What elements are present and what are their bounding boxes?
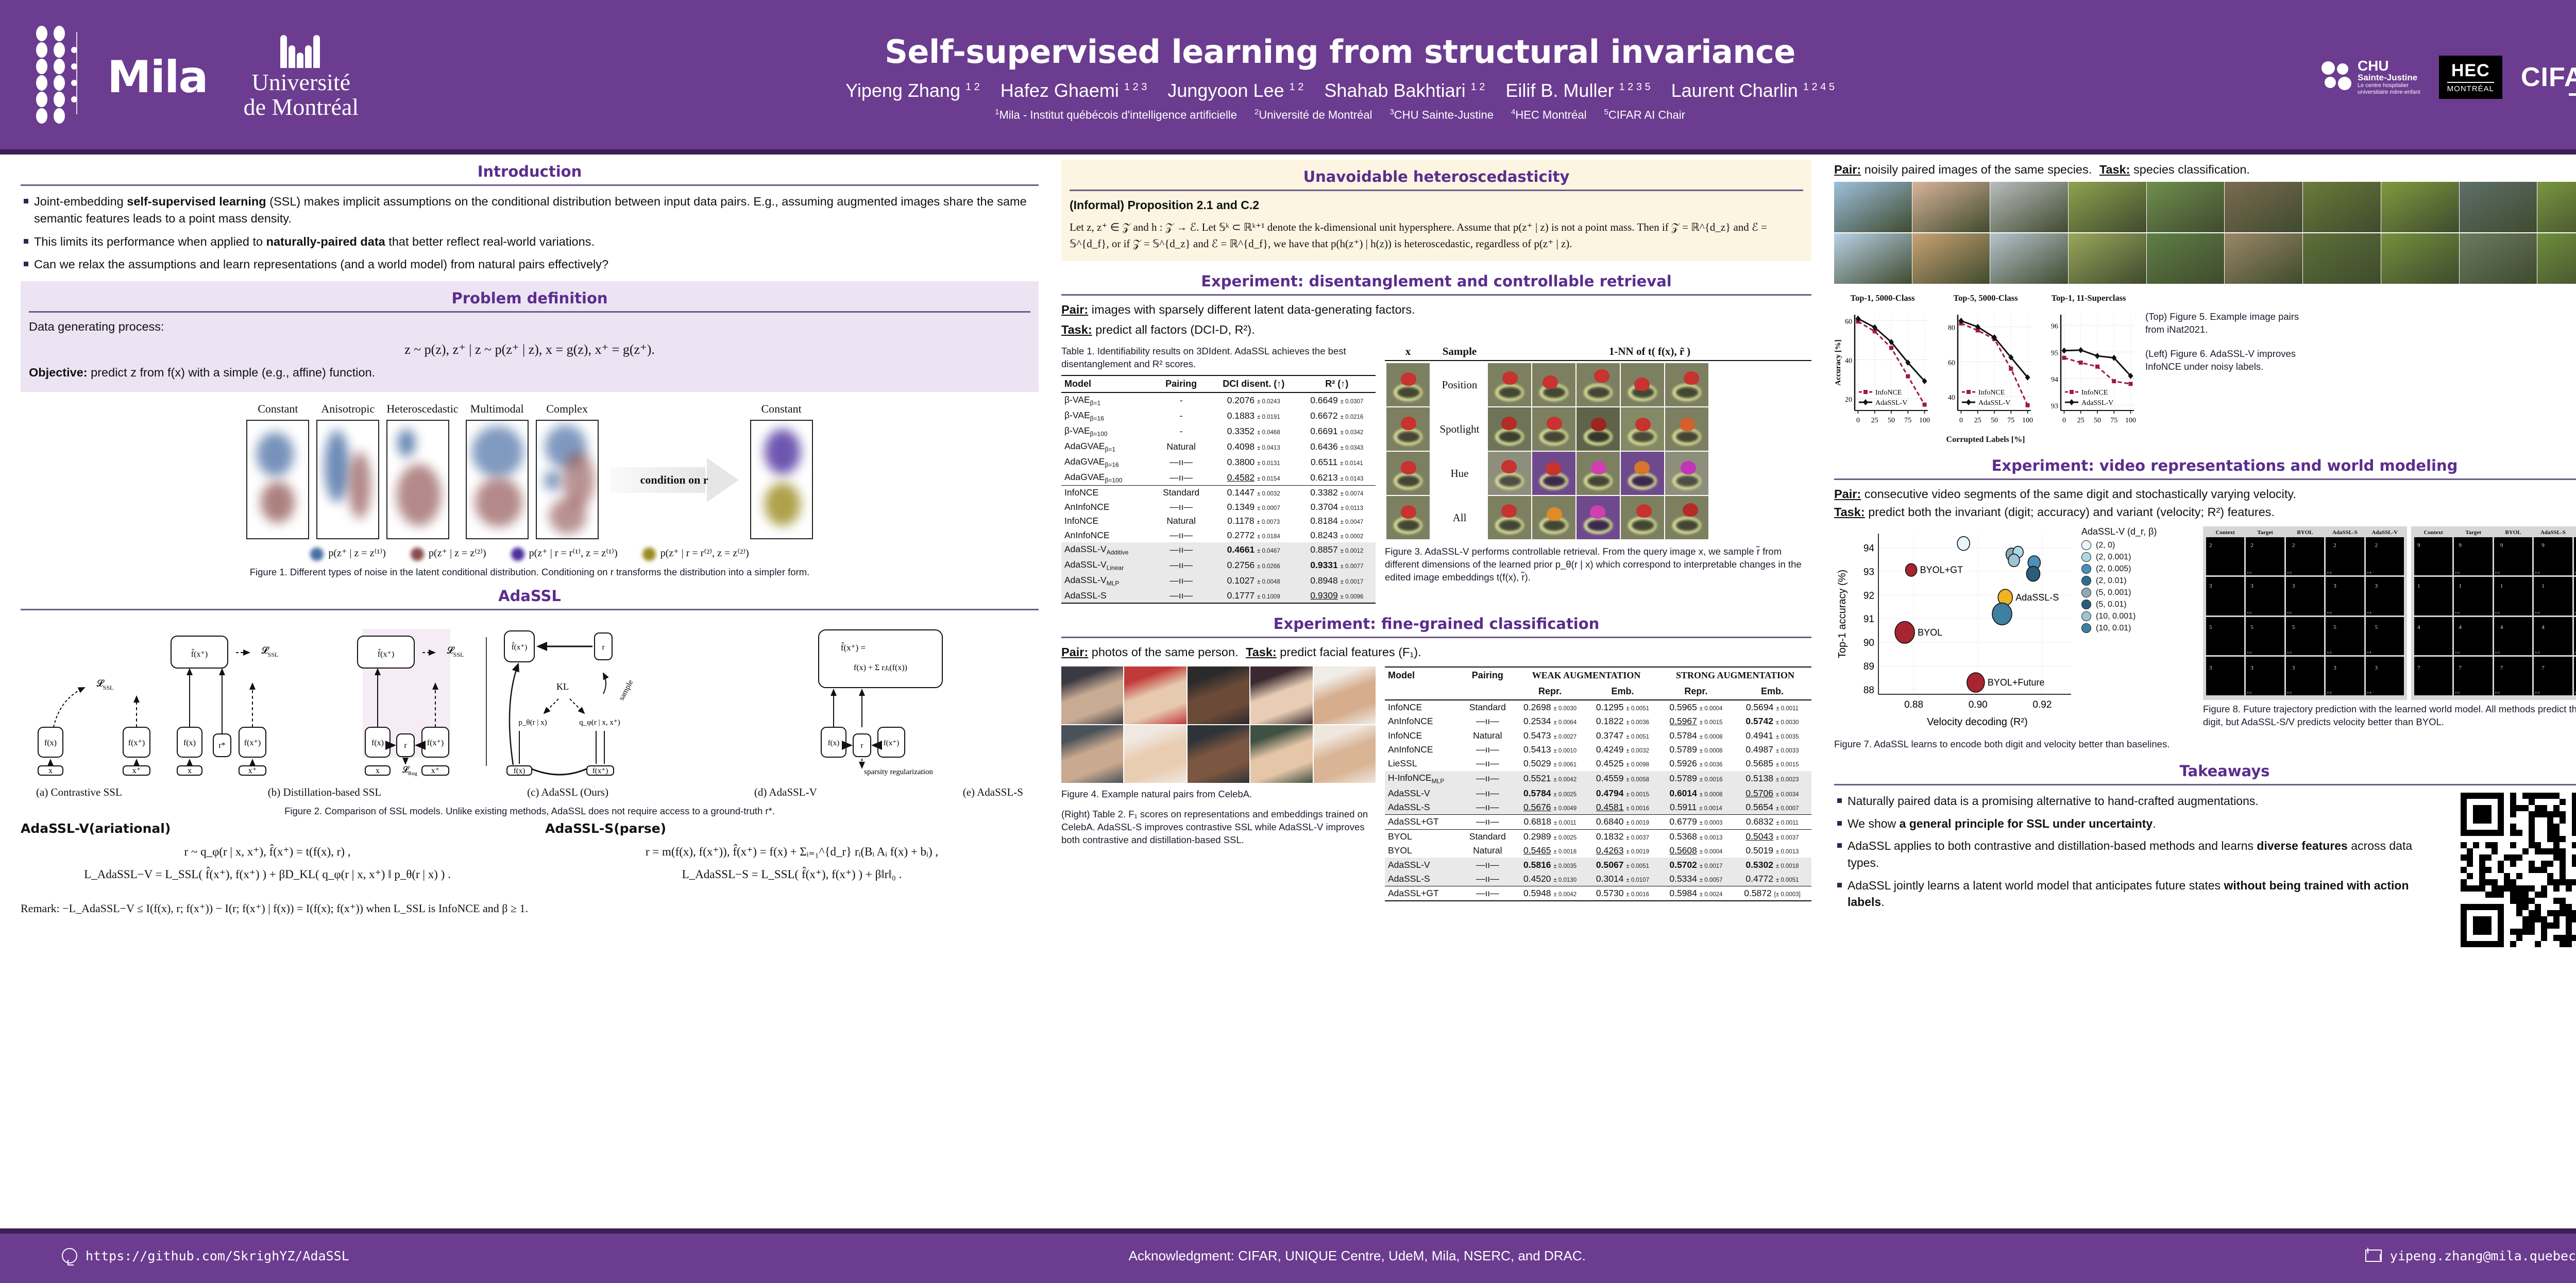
figure-7-caption: Figure 7. AdaSSL learns to encode both d… (1834, 738, 2195, 751)
objective-line: Objective: predict z from f(x) with a si… (29, 366, 1030, 380)
figure-1-panel-right: Constant (750, 402, 813, 539)
table2-cell-value: 0.5067 ± 0.0051 (1586, 858, 1659, 871)
table2-row: AdaSSL+GT—ıı—0.6818 ± 0.00110.6840 ± 0.0… (1385, 815, 1811, 829)
figure4-and-table2: Figure 4. Example natural pairs from Cel… (1061, 666, 1811, 902)
finegrained-task-text: predict facial features (F₁). (1280, 645, 1421, 659)
figure-1-panels: ConstantAnisotropicHeteroscedasticMultim… (36, 402, 1023, 539)
svg-text:f(x): f(x) (828, 739, 840, 747)
udem-logo: Université de Montréal (244, 35, 359, 120)
frame-caption: t+2 (2287, 691, 2292, 695)
teapot-image (1665, 452, 1708, 495)
digit-glyph: 1 (2459, 583, 2462, 589)
poster-footer: https://github.com/SkrighYZ/AdaSSL Ackno… (0, 1228, 2576, 1283)
chu-line2: Sainte-Justine (2358, 73, 2420, 82)
figure-8-cell: 9 (2414, 537, 2452, 575)
takeaway-bullet-2: We show a general principle for SSL unde… (1834, 815, 2446, 832)
table1-cell-model: AdaGVAEβ=16 (1061, 454, 1153, 470)
affiliation-1: 1Mila - Institut québécois d'intelligenc… (995, 108, 1237, 122)
celeba-face-6 (1061, 725, 1123, 783)
table2-cell-value: 0.5465 ± 0.0018 (1514, 844, 1586, 858)
table1-cell-model: AdaSSL-S (1061, 588, 1153, 603)
inat-image-top-2 (1912, 182, 1990, 232)
figure-8-headers-left: ContextTargetBYOLAdaSSL-SAdaSSL-V (2206, 529, 2404, 536)
figure-8-cell: 9t+1 (2454, 537, 2492, 575)
species-task-text: species classification. (2133, 163, 2250, 176)
table2-cell-value: 0.5029 ± 0.0061 (1514, 757, 1586, 771)
table2-row: InfoNCENatural0.5473 ± 0.00270.3747 ± 0.… (1385, 728, 1811, 742)
svg-text:AdaSSL-V: AdaSSL-V (2081, 399, 2113, 407)
svg-text:92: 92 (1863, 590, 1874, 601)
scatter-legend-swatch (2081, 564, 2091, 574)
figure-1-panel-1: Constant (246, 402, 309, 539)
objective-text: predict z from f(x) with a simple (e.g.,… (91, 366, 375, 379)
scatter-legend-item-7: (10, 0.001) (2081, 611, 2157, 621)
svg-text:f(x⁺): f(x⁺) (884, 739, 899, 747)
frame-caption: t+2 (2495, 571, 2500, 575)
figure-1-panel-5: Complex (536, 402, 599, 539)
table1-cell-r2: 0.8243 ± 0.0002 (1298, 528, 1376, 542)
table2-cell-value: 0.5138 ± 0.0023 (1733, 771, 1811, 786)
figure-8-row: 33t+13t+23t+33t+4 (2206, 657, 2404, 695)
section-adassl: AdaSSL f(x) x 𝓛SS (21, 584, 1039, 915)
svg-text:94: 94 (1863, 543, 1875, 554)
table1-cell-dci: 0.1178 ± 0.0073 (1209, 514, 1298, 528)
section-finegrained: Experiment: fine-grained classification … (1061, 612, 1811, 902)
teapot-image (1665, 407, 1708, 451)
disentangle-rule (1061, 294, 1811, 296)
table2-cell-pairing: —ıı— (1461, 771, 1514, 786)
svg-text:SSL: SSL (268, 651, 279, 658)
table1-cell-dci: 0.3800 ± 0.0131 (1209, 454, 1298, 470)
table1-row: InfoNCEStandard0.1447 ± 0.00320.3382 ± 0… (1061, 486, 1376, 500)
table2-cell-pairing: Natural (1461, 728, 1514, 742)
digit-glyph: 2 (2250, 542, 2253, 549)
introduction-bullets: Joint-embedding self-supervised learning… (21, 193, 1039, 273)
teapot-image (1621, 407, 1664, 451)
table2-cell-value: 0.5473 ± 0.0027 (1514, 728, 1586, 742)
video-rule (1834, 478, 2576, 480)
teapot-image (1488, 452, 1531, 495)
column-right: Pair: noisily paired images of the same … (1823, 160, 2576, 1228)
frame-caption: t+2 (2495, 611, 2500, 615)
svg-text:BYOL: BYOL (1918, 627, 1942, 638)
figure-3-neighbors (1488, 363, 1708, 406)
teapot-image (1621, 363, 1664, 406)
frame-caption: t+3 (2535, 611, 2539, 615)
frame-caption: t+1 (2455, 571, 2460, 575)
figure-8-header-5: AdaSSL-V (2574, 529, 2576, 536)
section-disentanglement: Experiment: disentanglement and controll… (1061, 269, 1811, 604)
table1-cell-dci: 0.2756 ± 0.0266 (1209, 558, 1298, 573)
celeba-face-2 (1124, 666, 1186, 724)
svg-text:0: 0 (2062, 417, 2066, 424)
table2-row: AdaSSL-V—ıı—0.5816 ± 0.00350.5067 ± 0.00… (1385, 858, 1811, 871)
table1-cell-pairing: —ıı— (1153, 558, 1209, 573)
scatter-legend-label: (10, 0.01) (2096, 624, 2131, 633)
digit-glyph: 9 (2541, 542, 2545, 549)
chu-sainte-justine-logo: CHU Sainte-Justine Le centre hospitalier… (2321, 59, 2420, 95)
problem-title: Problem definition (29, 286, 1030, 311)
table2-row: AdaSSL-V—ıı—0.5784 ± 0.00250.4794 ± 0.00… (1385, 786, 1811, 800)
inat-image-top-3 (1990, 182, 2068, 232)
table2-col-5: Repr. (1659, 683, 1733, 700)
frame-caption: t+3 (2535, 651, 2539, 655)
introduction-bullet-1: Joint-embedding self-supervised learning… (21, 193, 1039, 228)
species-pair-text: noisily paired images of the same specie… (1865, 163, 2092, 176)
table1-header-row: ModelPairingDCI disent. (↑)R² (↑) (1061, 375, 1376, 392)
svg-text:AdaSSL-S: AdaSSL-S (2015, 592, 2059, 603)
line-charts: Top-1, 5000-Class2040600255075100InfoNCE… (1834, 293, 2137, 434)
figure-8-row: 44t+14t+24t+34t+4 (2414, 617, 2576, 655)
digit-glyph: 1 (2500, 583, 2503, 589)
finegrained-rule (1061, 637, 1811, 638)
svg-text:60: 60 (1948, 359, 1955, 367)
frame-caption: t+2 (2287, 611, 2292, 615)
figure-5-caption: (Top) Figure 5. Example image pairs from… (2145, 311, 2315, 336)
table1-row: β-VAEβ=100-0.3352 ± 0.04680.6691 ± 0.034… (1061, 424, 1376, 439)
takeaway-bullet-1: Naturally paired data is a promising alt… (1834, 793, 2446, 810)
table1-cell-dci: 0.1349 ± 0.0007 (1209, 500, 1298, 514)
table2-cell-value: 0.4987 ± 0.0033 (1733, 743, 1811, 757)
table2-cell-model: InfoNCE (1385, 728, 1461, 742)
scatter-legend-title: AdaSSL-V (d_r, β) (2081, 526, 2157, 537)
digit-glyph: 3 (2292, 583, 2295, 589)
table1-cell-dci: 0.4661 ± 0.0467 (1209, 542, 1298, 558)
figure-2-label-2: (b) Distillation-based SSL (268, 786, 381, 799)
svg-text:20: 20 (1845, 396, 1852, 404)
svg-text:75: 75 (2110, 417, 2117, 424)
table1-cell-model: InfoNCE (1061, 514, 1153, 528)
svg-text:p_θ(r | x): p_θ(r | x) (518, 719, 547, 727)
table2-cell-value: 0.5694 ± 0.0011 (1733, 700, 1811, 714)
scatter-legend-swatch (2081, 540, 2091, 550)
table1-cell-pairing: —ıı— (1153, 573, 1209, 588)
figure-1-legend-item-2: p(z⁺ | z = z⁽²⁾) (411, 546, 486, 560)
figure-8-cell: 5t+2 (2286, 617, 2324, 655)
digit-glyph: 4 (2417, 624, 2420, 630)
table1-cell-r2: 0.6649 ± 0.0307 (1298, 392, 1376, 408)
table1-cell-pairing: —ıı— (1153, 542, 1209, 558)
table2-cell-value: 0.5926 ± 0.0036 (1659, 757, 1733, 771)
species-pair-label: Pair: (1834, 163, 1861, 176)
figure-8-row: 77t+17t+27t+37t+4 (2414, 657, 2576, 695)
scatter-legend-item-8: (10, 0.01) (2081, 623, 2157, 633)
figure-3-query (1385, 496, 1431, 539)
svg-text:r*: r* (218, 741, 225, 750)
svg-text:60: 60 (1845, 318, 1852, 326)
mila-logo-mark (36, 26, 98, 129)
svg-text:88: 88 (1863, 685, 1874, 696)
condition-arrow-label: condition on r (640, 473, 708, 487)
table1-cell-dci: 0.4582 ± 0.0154 (1209, 470, 1298, 485)
table2-cell-value: 0.5654 ± 0.0007 (1733, 800, 1811, 815)
scatter-svg: 888990919293940.880.900.92AdaSSL-SBYOL+G… (1834, 526, 2076, 732)
svg-text:sample: sample (617, 678, 635, 702)
table1-row: AdaGVAEβ=100—ıı—0.4582 ± 0.01540.6213 ± … (1061, 470, 1376, 485)
teapot-image (1665, 496, 1708, 539)
svg-text:BYOL+Future: BYOL+Future (1988, 677, 2045, 688)
table2-cell-pairing: —ıı— (1461, 786, 1514, 800)
hec-line2: MONTRÉAL (2447, 82, 2494, 93)
svg-text:x: x (188, 766, 192, 775)
objective-label: Objective: (29, 366, 88, 379)
table2-cell-value: 0.5334 ± 0.0057 (1659, 872, 1733, 886)
svg-text:90: 90 (1863, 638, 1874, 648)
takeaways-title: Takeaways (1834, 759, 2576, 784)
figure-5 (1834, 182, 2576, 284)
teapot-image (1532, 452, 1575, 495)
figure7-figure8: 888990919293940.880.900.92AdaSSL-SBYOL+G… (1834, 526, 2576, 751)
celeba-face-4 (1250, 666, 1312, 724)
inat-image-top-1 (1834, 182, 1912, 232)
frame-caption: t+1 (2247, 611, 2251, 615)
disentangle-title: Experiment: disentanglement and controll… (1061, 269, 1811, 294)
table1-cell-model: AdaSSL-VLinear (1061, 558, 1153, 573)
adassl-title: AdaSSL (21, 584, 1039, 609)
table2-cell-pairing: Natural (1461, 844, 1514, 858)
table2-header-row: Repr.Emb.Repr.Emb. (1385, 683, 1811, 700)
table2-cell-value: 0.5521 ± 0.0042 (1514, 771, 1586, 786)
scatter-legend-swatch (2081, 588, 2091, 597)
table1-cell-pairing: —ıı— (1153, 454, 1209, 470)
teapot-image (1488, 407, 1531, 451)
video-title: Experiment: video representations and wo… (1834, 454, 2576, 478)
affiliation-4: 4HEC Montréal (1511, 108, 1587, 122)
table2-cell-model: AnInfoNCE (1385, 743, 1461, 757)
digit-glyph: 4 (2541, 624, 2545, 630)
table2-cell-pairing: —ıı— (1461, 858, 1514, 871)
affiliation-2: 2Université de Montréal (1255, 108, 1372, 122)
table2-cell-value: 0.5706 ± 0.0034 (1733, 786, 1811, 800)
svg-text:x⁺: x⁺ (132, 766, 141, 775)
table1-cell-model: β-VAEβ=16 (1061, 408, 1153, 424)
section-video: Experiment: video representations and wo… (1834, 454, 2576, 751)
disentangle-pair-line: Pair: images with sparsely different lat… (1061, 303, 1811, 317)
affiliation-list: 1Mila - Institut québécois d'intelligenc… (379, 108, 2301, 122)
scatter-legend-item-1: (2, 0) (2081, 540, 2157, 550)
figure-8-cell: 2t+4 (2366, 537, 2404, 575)
svg-text:r: r (861, 742, 863, 750)
svg-text:0: 0 (1856, 417, 1860, 424)
hec-line1: HEC (2447, 62, 2494, 79)
qr-code[interactable] (2461, 793, 2576, 947)
figure-3-neighbors (1488, 452, 1708, 495)
table2-cell-value: 0.1822 ± 0.0036 (1586, 714, 1659, 728)
table1-row: AdaSSL-S—ıı—0.1777 ± 0.10090.9309 ± 0.00… (1061, 588, 1376, 603)
figure-3-caption: Figure 3. AdaSSL-V performs controllable… (1385, 545, 1811, 584)
teapot-image (1577, 407, 1620, 451)
celeba-face-1 (1061, 666, 1123, 724)
figure-2-label-1: (a) Contrastive SSL (36, 786, 122, 799)
table1-cell-r2: 0.6213 ± 0.0143 (1298, 470, 1376, 485)
figure-8-grid-right: ContextTargetBYOLAdaSSL-SAdaSSL-V 99t+19… (2411, 526, 2576, 700)
chu-line3: Le centre hospitalier (2358, 82, 2420, 89)
email-link[interactable]: yipeng.zhang@mila.quebec (2365, 1248, 2576, 1263)
table2-cell-value: 0.5784 ± 0.0025 (1514, 786, 1586, 800)
adassl-s-column: AdaSSL-S(parse) r = m(f(x), f(x⁺)), f̂(x… (545, 821, 1039, 891)
figure-8-cell: 4t+1 (2454, 617, 2492, 655)
email-address: yipeng.zhang@mila.quebec (2390, 1248, 2576, 1263)
disentangle-task-line: Task: predict all factors (DCI-D, R²). (1061, 323, 1811, 337)
digit-glyph: 5 (2250, 624, 2253, 630)
figure-8-row: 11t+11t+21t+31t+4 (2414, 577, 2576, 615)
table2-cell-value: 0.3014 ± 0.0107 (1586, 872, 1659, 886)
table1-cell-dci: 0.1883 ± 0.0191 (1209, 408, 1298, 424)
table2-row: AdaSSL+GT—ıı—0.5948 ± 0.00420.5730 ± 0.0… (1385, 886, 1811, 901)
author-6: Laurent Charlin 1 2 4 5 (1671, 80, 1835, 101)
table2-col-4: Emb. (1586, 683, 1659, 700)
figure-8-cell: 3t+2 (2286, 577, 2324, 615)
svg-text:100: 100 (2125, 417, 2136, 424)
table2-cell-model: LieSSL (1385, 757, 1461, 771)
digit-glyph: 7 (2459, 665, 2462, 671)
figure-2-labels: (a) Contrastive SSL(b) Distillation-base… (23, 779, 1037, 799)
figure-2-label-3: (c) AdaSSL (Ours) (527, 786, 608, 799)
author-1: Yipeng Zhang 1 2 (845, 80, 980, 101)
envelope-icon (2365, 1250, 2382, 1262)
table1-row: AdaSSL-VAdditive—ıı—0.4661 ± 0.04670.885… (1061, 542, 1376, 558)
disentangle-pair-text: images with sparsely different latent da… (1092, 303, 1415, 316)
figure-8-cell: 3t+2 (2286, 657, 2324, 695)
figure-3-neighbors (1488, 407, 1708, 451)
scatter-legend-swatch (2081, 552, 2091, 562)
digit-glyph: 9 (2459, 542, 2462, 549)
figure-8-header-3: BYOL (2494, 529, 2532, 536)
figure-8-cell: 2 (2206, 537, 2244, 575)
table1-cell-model: AdaSSL-VAdditive (1061, 542, 1153, 558)
digit-glyph: 9 (2417, 542, 2420, 549)
table1-cell-r2: 0.6511 ± 0.0141 (1298, 454, 1376, 470)
figure-8-header-2: Target (2454, 529, 2492, 536)
figure-5-6-captions: (Top) Figure 5. Example image pairs from… (2145, 293, 2315, 373)
table1-cell-r2: 0.3382 ± 0.0074 (1298, 486, 1376, 500)
svg-text:SSL: SSL (453, 651, 464, 658)
scatter-legend-label: (5, 0.001) (2096, 588, 2131, 597)
table2-group-strong: STRONG AUGMENTATION (1659, 667, 1811, 683)
line-chart-2: Top-5, 5000-Class4060800255075100InfoNCE… (1937, 293, 2034, 434)
video-pair-label: Pair: (1834, 487, 1861, 501)
table2-cell-value: 0.5872 [± 0.0003] (1733, 886, 1811, 901)
table2-cell-value: 0.5608 ± 0.0004 (1659, 844, 1733, 858)
table2-cell-pairing: Standard (1461, 829, 1514, 844)
table1-row: AnInfoNCE—ıı—0.2772 ± 0.01840.8243 ± 0.0… (1061, 528, 1376, 542)
figure-3-row: Position (1385, 363, 1811, 406)
takeaways-bullets: Naturally paired data is a promising alt… (1834, 793, 2446, 916)
digit-glyph: 3 (2250, 665, 2253, 671)
inat-image-bottom-10 (2537, 233, 2576, 284)
video-task-text: predict both the invariant (digit; accur… (1868, 505, 2275, 519)
table2-cell-pairing: —ıı— (1461, 815, 1514, 829)
table1-cell-model: AnInfoNCE (1061, 500, 1153, 514)
table2-cell-model: AdaSSL-S (1385, 872, 1461, 886)
figure-8-header-4: AdaSSL-S (2326, 529, 2364, 536)
table1-cell-model: AnInfoNCE (1061, 528, 1153, 542)
introduction-title: Introduction (21, 160, 1039, 184)
author-2: Hafez Ghaemi 1 2 3 (1001, 80, 1147, 101)
inat-image-bottom-9 (2460, 233, 2537, 284)
chu-logo-mark (2321, 61, 2352, 93)
figure-4-block: Figure 4. Example natural pairs from Cel… (1061, 666, 1376, 902)
inat-image-bottom-1 (1834, 233, 1912, 284)
svg-text:93: 93 (2051, 403, 2058, 410)
table2-row: LieSSL—ıı—0.5029 ± 0.00610.4525 ± 0.0098… (1385, 757, 1811, 771)
table2-cell-value: 0.5742 ± 0.0030 (1733, 714, 1811, 728)
digit-glyph: 2 (2375, 542, 2378, 549)
line-chart-title-1: Top-1, 5000-Class (1834, 293, 1931, 303)
scatter-wrap: 888990919293940.880.900.92AdaSSL-SBYOL+G… (1834, 526, 2195, 735)
github-link[interactable]: https://github.com/SkrighYZ/AdaSSL (62, 1248, 349, 1263)
table2-cell-value: 0.2698 ± 0.0030 (1514, 700, 1586, 714)
table1-body: β-VAEβ=1-0.2076 ± 0.02430.6649 ± 0.0307β… (1061, 392, 1376, 603)
frame-caption: t+3 (2535, 571, 2539, 575)
adassl-s-head: AdaSSL-S(parse) (545, 821, 1039, 836)
table1-cell-pairing: —ıı— (1153, 588, 1209, 603)
table1-cell-pairing: Natural (1153, 514, 1209, 528)
table1-and-figure3: Table 1. Identifiability results on 3DId… (1061, 345, 1811, 604)
teapot-image (1621, 496, 1664, 539)
figure-8-cell: 2t+2 (2286, 537, 2324, 575)
disentangle-task-label: Task: (1061, 323, 1092, 336)
figure-8-rows-left: 22t+12t+22t+32t+433t+13t+23t+33t+455t+15… (2206, 537, 2404, 695)
svg-text:f̂(x⁺): f̂(x⁺) (191, 648, 208, 659)
figure-3-block: x Sample 1-NN of t( f(x), r̃ ) PositionS… (1385, 345, 1811, 604)
table1-row: β-VAEβ=16-0.1883 ± 0.01910.6672 ± 0.0216 (1061, 408, 1376, 424)
figure-3-row: Hue (1385, 452, 1811, 495)
digit-glyph: 3 (2375, 665, 2378, 671)
adassl-v-column: AdaSSL-V(ariational) r ~ q_φ(r | x, x⁺),… (21, 821, 514, 891)
digit-glyph: 1 (2541, 583, 2545, 589)
table2-cell-value: 0.4263 ± 0.0019 (1586, 844, 1659, 858)
figure-8-header-2: Target (2246, 529, 2284, 536)
table2-header: ModelPairingWEAK AUGMENTATIONSTRONG AUGM… (1385, 667, 1811, 700)
table1-cell-r2: 0.8857 ± 0.0012 (1298, 542, 1376, 558)
introduction-bullet-2: This limits its performance when applied… (21, 233, 1039, 250)
figure-8-cell: 4 (2414, 617, 2452, 655)
adassl-s-eq2: L_AdaSSL−S = L_SSL( f̂(x⁺), f(x⁺) ) + β‖… (545, 868, 1039, 881)
line-chart-title-2: Top-5, 5000-Class (1937, 293, 2034, 303)
figure-8-grid-left: ContextTargetBYOLAdaSSL-SAdaSSL-V 22t+12… (2203, 526, 2407, 700)
figure-8-row: 99t+19t+29t+39t+4 (2414, 537, 2576, 575)
table2-group-header: ModelPairingWEAK AUGMENTATIONSTRONG AUGM… (1385, 667, 1811, 683)
frame-caption: t+3 (2327, 571, 2331, 575)
table2-cell-value: 0.5789 ± 0.0016 (1659, 771, 1733, 786)
table1-cell-pairing: - (1153, 408, 1209, 424)
table1-row: β-VAEβ=1-0.2076 ± 0.02430.6649 ± 0.0307 (1061, 392, 1376, 408)
figure-8-cell: 9t+3 (2534, 537, 2572, 575)
figure-3-col-sample: Sample (1431, 345, 1488, 358)
finegrained-pair-label: Pair: (1061, 645, 1088, 659)
table2-cell-model: AdaSSL-V (1385, 786, 1461, 800)
line-charts-xlabel: Corrupted Labels [%] (1834, 435, 2137, 444)
figure-3-rows: PositionSpotlightHueAll (1385, 363, 1811, 539)
table2-cell-value: 0.1295 ± 0.0051 (1586, 700, 1659, 714)
celeba-face-10 (1314, 725, 1376, 783)
table1-row: AdaSSL-VLinear—ıı—0.2756 ± 0.02660.9331 … (1061, 558, 1376, 573)
table2-col-3: Repr. (1514, 683, 1586, 700)
table2-row: AdaSSL-S—ıı—0.5676 ± 0.00490.4581 ± 0.00… (1385, 800, 1811, 815)
figure-1-panel-label-5: Complex (536, 402, 599, 416)
table2-cell-pairing: —ıı— (1461, 800, 1514, 815)
svg-text:100: 100 (1919, 417, 1930, 424)
table2-cell-model: AdaSSL-S (1385, 800, 1461, 815)
table2-cell-value: 0.4520 ± 0.0130 (1514, 872, 1586, 886)
disentangle-pair-label: Pair: (1061, 303, 1088, 316)
figure-3-row: Spotlight (1385, 407, 1811, 451)
teapot-image (1532, 496, 1575, 539)
scatter-legend-item-3: (2, 0.005) (2081, 564, 2157, 574)
hec-montreal-logo: HEC MONTRÉAL (2439, 56, 2502, 99)
hetero-rule (1070, 190, 1803, 191)
